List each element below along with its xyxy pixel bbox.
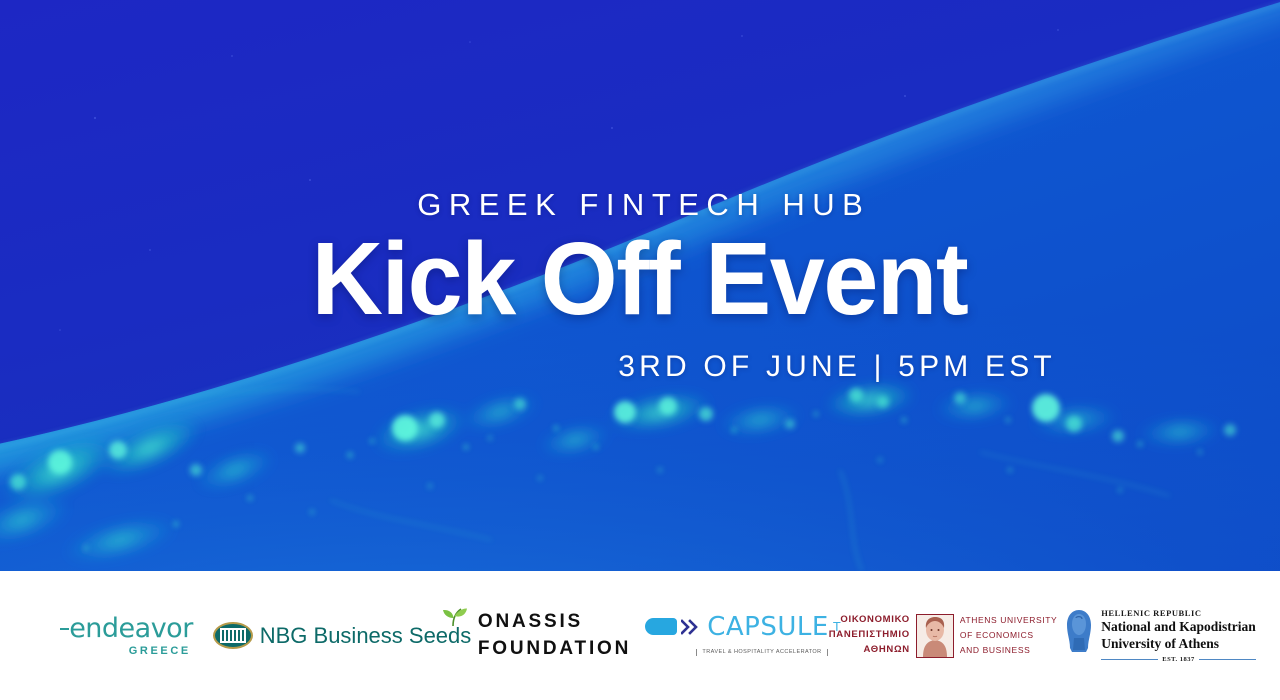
aueb-english-line-3: AND BUSINESS: [960, 643, 1057, 658]
capsule-pill-icon: [645, 618, 677, 635]
hero-section: GREEK FINTECH HUB Kick Off Event 3RD OF …: [0, 0, 1280, 571]
leaf-sprout-icon: [438, 605, 468, 627]
nkua-established-year: EST. 1837: [1162, 656, 1195, 663]
onassis-line-2: FOUNDATION: [478, 636, 631, 662]
capsule-wordmark: CAPSULE: [707, 614, 829, 640]
logo-athens-university-economics-business[interactable]: ΟΙΚΟΝΟΜΙΚΟ ΠΑΝΕΠΙΣΤΗΜΙΟ ΑΘΗΝΩΝ: [843, 601, 1043, 671]
endeavor-dash-icon: [60, 628, 69, 630]
capsule-tagline: TRAVEL & HOSPITALITY ACCELERATOR: [696, 649, 827, 657]
nkua-hellenic-republic-label: HELLENIC REPUBLIC: [1101, 608, 1256, 619]
sponsor-logo-bar: endeavor GREECE NBG Business Seeds: [0, 571, 1280, 700]
aueb-greek-line-1: ΟΙΚΟΝΟΜΙΚΟ: [829, 613, 910, 628]
aueb-english-line-1: ATHENS UNIVERSITY: [960, 613, 1057, 628]
logo-national-kapodistrian-university-athens[interactable]: HELLENIC REPUBLIC National and Kapodistr…: [1065, 601, 1255, 671]
logo-nbg-business-seeds[interactable]: NBG Business Seeds: [244, 601, 440, 671]
aueb-greek-line-3: ΑΘΗΝΩΝ: [829, 643, 910, 658]
aueb-classical-bust-icon: [916, 614, 954, 658]
endeavor-wordmark: endeavor: [69, 615, 193, 642]
aueb-greek-line-2: ΠΑΝΕΠΙΣΤΗΜΙΟ: [829, 628, 910, 643]
athena-seal-icon: [1064, 608, 1094, 654]
earth-night-background-image: [0, 0, 1280, 571]
onassis-line-1: ONASSIS: [478, 609, 631, 635]
nkua-rule-left: [1101, 659, 1158, 660]
double-chevron-icon: [681, 619, 703, 635]
endeavor-region-label: GREECE: [69, 646, 193, 657]
nkua-rule-right: [1199, 659, 1256, 660]
logo-onassis-foundation[interactable]: ONASSIS FOUNDATION: [472, 601, 637, 671]
event-banner: GREEK FINTECH HUB Kick Off Event 3RD OF …: [0, 0, 1280, 700]
aueb-english-line-2: OF ECONOMICS: [960, 628, 1057, 643]
nkua-name-line-2: University of Athens: [1101, 636, 1256, 653]
logo-capsule-t[interactable]: CAPSULET TRAVEL & HOSPITALITY ACCELERATO…: [669, 601, 817, 671]
logo-endeavor-greece[interactable]: endeavor GREECE: [46, 601, 216, 671]
nbg-wordmark: NBG Business Seeds: [260, 625, 472, 647]
nkua-name-line-1: National and Kapodistrian: [1101, 619, 1256, 636]
nbg-oval-emblem-icon: [213, 622, 253, 649]
